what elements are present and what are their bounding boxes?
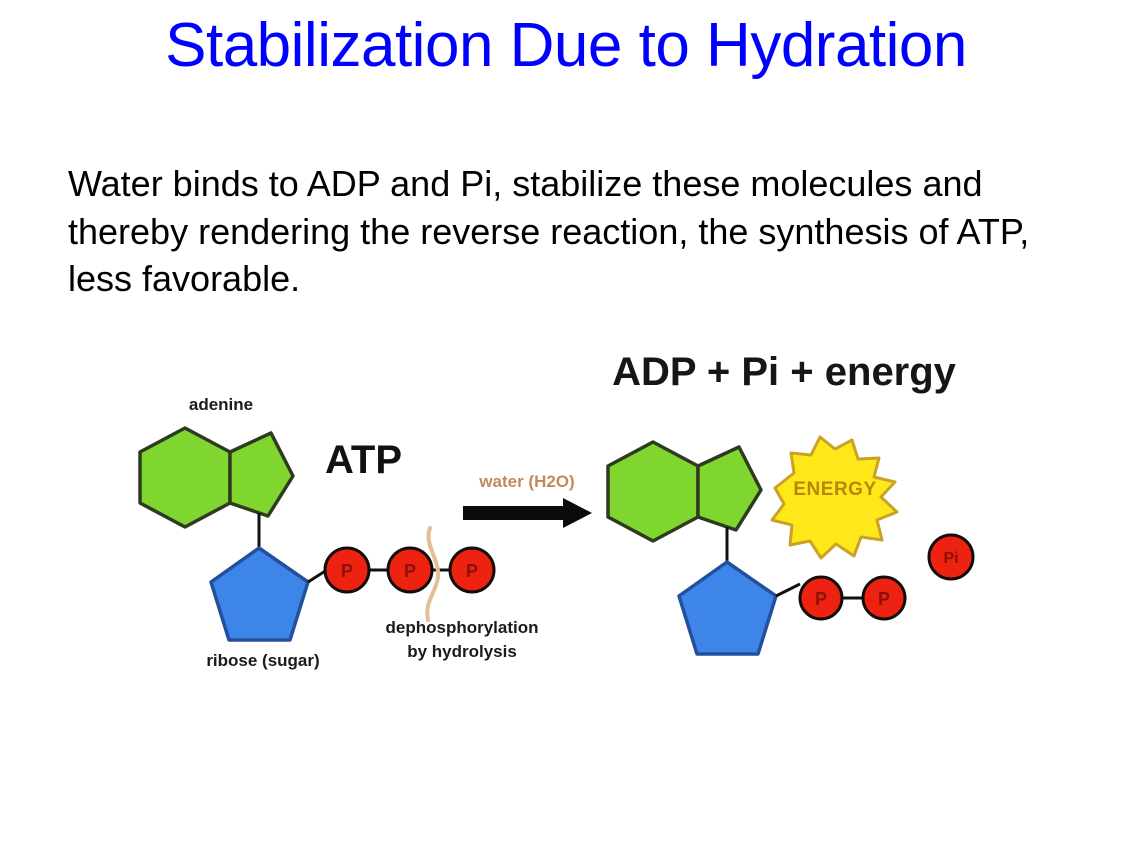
hydrolysis-caption-line1: dephosphorylation <box>386 618 539 637</box>
body-paragraph: Water binds to ADP and Pi, stabilize the… <box>68 160 1068 303</box>
slide-canvas: Stabilization Due to Hydration Water bin… <box>0 0 1132 843</box>
adenine-hexagon-left <box>140 428 230 527</box>
bond-ribose-phosphate-right <box>776 584 800 596</box>
adenine-pentagon-right <box>698 447 761 530</box>
ribose-pentagon-right <box>679 562 776 654</box>
diagram-svg: adenine ribose (sugar) P P P <box>0 330 1132 710</box>
phosphate-label-3: P <box>466 561 478 581</box>
hydrolysis-caption-line2: by hydrolysis <box>407 642 517 661</box>
phosphate-label-1: P <box>341 561 353 581</box>
water-label: water (H2O) <box>478 472 574 491</box>
free-phosphate-label: Pi <box>943 550 958 567</box>
adenine-pentagon-left <box>230 433 293 516</box>
atp-hydrolysis-diagram: adenine ribose (sugar) P P P <box>0 330 1132 710</box>
adenine-hexagon-right <box>608 442 698 541</box>
adp-phosphate-label-1: P <box>815 589 827 609</box>
adenine-label: adenine <box>189 395 253 414</box>
reaction-arrow-icon <box>463 498 592 528</box>
page-title: Stabilization Due to Hydration <box>0 12 1132 80</box>
energy-label: ENERGY <box>793 479 876 500</box>
phosphate-label-2: P <box>404 561 416 581</box>
products-header: ADP + Pi + energy <box>612 350 957 394</box>
atp-label: ATP <box>325 438 402 482</box>
ribose-pentagon-left <box>211 548 308 640</box>
adp-phosphate-label-2: P <box>878 589 890 609</box>
ribose-label: ribose (sugar) <box>206 651 319 670</box>
